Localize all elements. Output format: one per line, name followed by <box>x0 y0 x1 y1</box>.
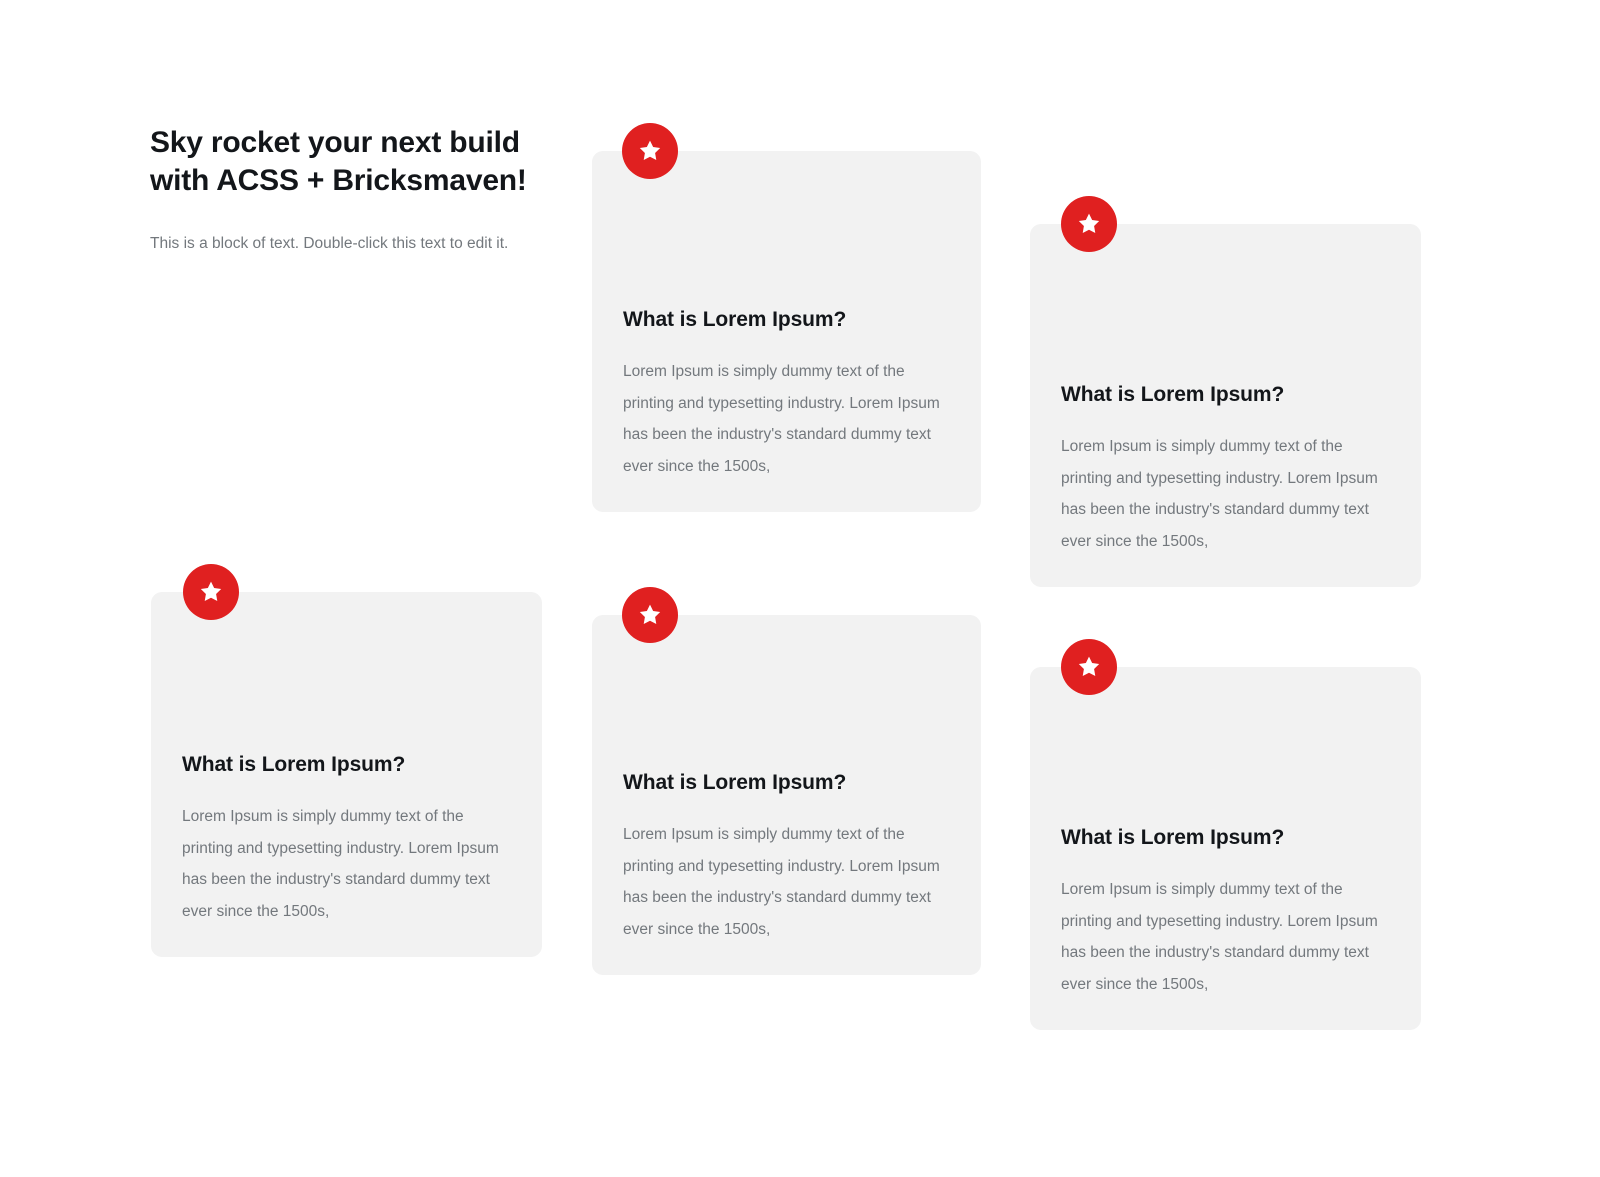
feature-card[interactable]: What is Lorem Ipsum? Lorem Ipsum is simp… <box>592 151 981 512</box>
card-title: What is Lorem Ipsum? <box>623 306 950 334</box>
star-icon <box>198 579 224 605</box>
star-badge <box>1061 196 1117 252</box>
feature-card[interactable]: What is Lorem Ipsum? Lorem Ipsum is simp… <box>151 592 542 957</box>
page-root: Sky rocket your next build with ACSS + B… <box>0 0 1600 1177</box>
card-content: What is Lorem Ipsum? Lorem Ipsum is simp… <box>1061 381 1390 557</box>
card-body: Lorem Ipsum is simply dummy text of the … <box>1061 431 1390 557</box>
card-title: What is Lorem Ipsum? <box>182 751 511 779</box>
card-body: Lorem Ipsum is simply dummy text of the … <box>623 819 950 945</box>
card-title: What is Lorem Ipsum? <box>1061 824 1390 852</box>
card-body: Lorem Ipsum is simply dummy text of the … <box>1061 874 1390 1000</box>
feature-card[interactable]: What is Lorem Ipsum? Lorem Ipsum is simp… <box>592 615 981 975</box>
card-title: What is Lorem Ipsum? <box>1061 381 1390 409</box>
intro-paragraph[interactable]: This is a block of text. Double-click th… <box>150 228 535 260</box>
card-body: Lorem Ipsum is simply dummy text of the … <box>623 356 950 482</box>
feature-card[interactable]: What is Lorem Ipsum? Lorem Ipsum is simp… <box>1030 667 1421 1030</box>
star-icon <box>1076 211 1102 237</box>
card-content: What is Lorem Ipsum? Lorem Ipsum is simp… <box>623 769 950 945</box>
star-badge <box>183 564 239 620</box>
star-icon <box>1076 654 1102 680</box>
card-content: What is Lorem Ipsum? Lorem Ipsum is simp… <box>182 751 511 927</box>
star-icon <box>637 138 663 164</box>
intro-block: Sky rocket your next build with ACSS + B… <box>150 124 540 260</box>
star-badge <box>622 123 678 179</box>
card-body: Lorem Ipsum is simply dummy text of the … <box>182 801 511 927</box>
feature-card[interactable]: What is Lorem Ipsum? Lorem Ipsum is simp… <box>1030 224 1421 587</box>
star-icon <box>637 602 663 628</box>
star-badge <box>622 587 678 643</box>
page-title: Sky rocket your next build with ACSS + B… <box>150 124 540 200</box>
card-title: What is Lorem Ipsum? <box>623 769 950 797</box>
card-content: What is Lorem Ipsum? Lorem Ipsum is simp… <box>623 306 950 482</box>
card-content: What is Lorem Ipsum? Lorem Ipsum is simp… <box>1061 824 1390 1000</box>
star-badge <box>1061 639 1117 695</box>
